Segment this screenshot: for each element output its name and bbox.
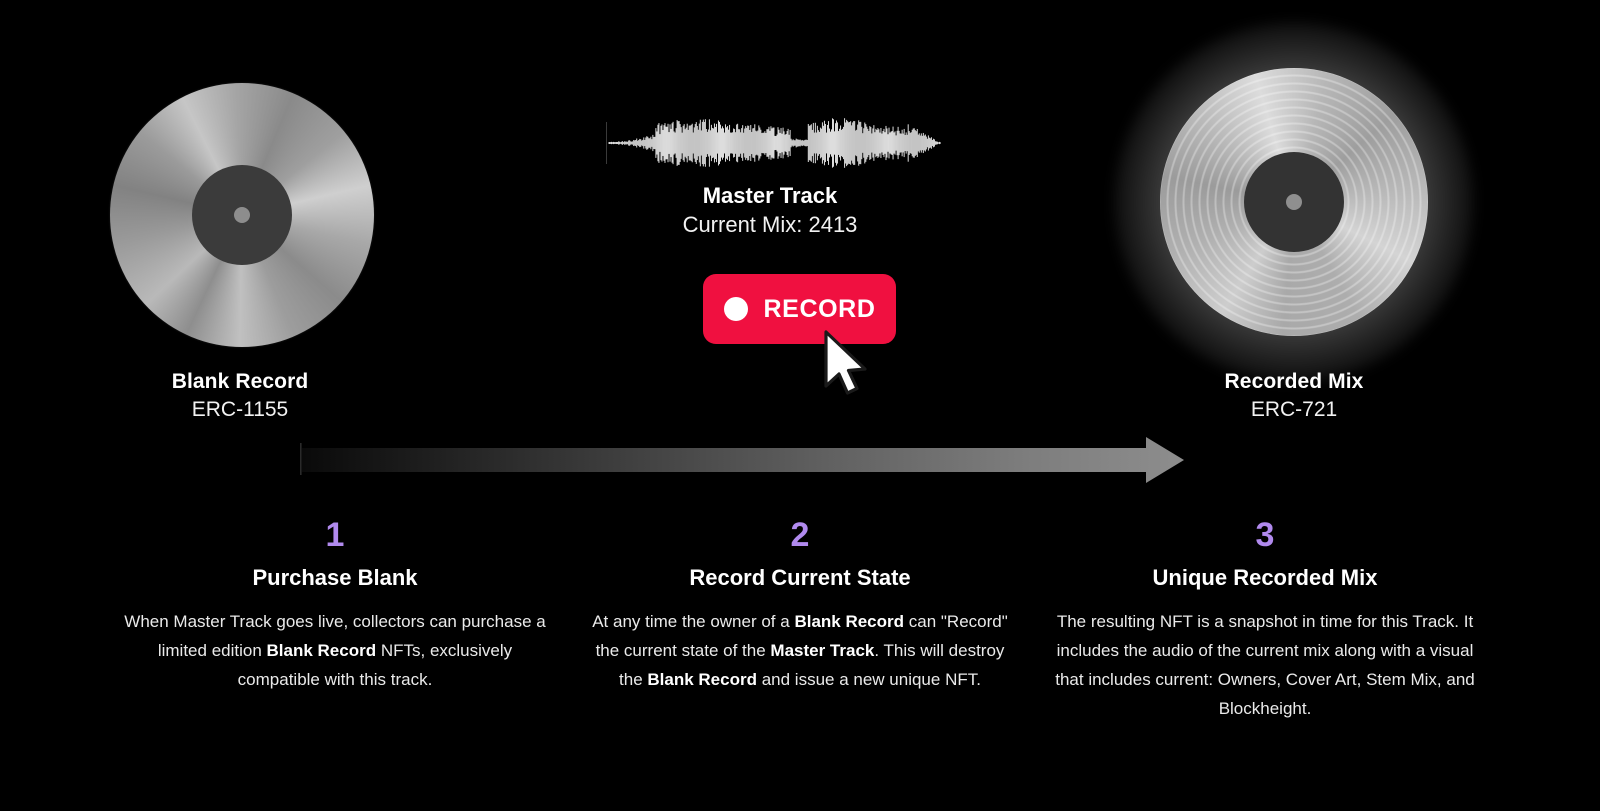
blank-record-caption: Blank Record ERC-1155 [60,369,420,425]
step-1: 1 Purchase Blank When Master Track goes … [103,515,568,723]
blank-record-graphic [110,83,374,347]
blank-record-standard: ERC-1155 [60,395,420,425]
record-button-label: RECORD [764,295,876,324]
step-2: 2 Record Current State At any time the o… [568,515,1033,723]
audio-waveform-icon [606,116,942,170]
master-track-title: Master Track [560,182,980,210]
record-spindle-hole [234,207,250,223]
page-root: Blank Record ERC-1155 Recorded Mix ERC-7… [0,0,1600,811]
steps-row: 1 Purchase Blank When Master Track goes … [0,515,1600,723]
step-body: When Master Track goes live, collectors … [121,607,550,694]
step-body: At any time the owner of a Blank Record … [586,607,1015,694]
master-track-info: Master Track Current Mix: 2413 [560,182,980,240]
step-number: 1 [121,515,550,555]
recorded-mix-title: Recorded Mix [1114,369,1474,395]
record-dot-icon [724,297,748,321]
recorded-mix-caption: Recorded Mix ERC-721 [1114,369,1474,425]
record-button[interactable]: RECORD [703,274,896,344]
blank-record-title: Blank Record [60,369,420,395]
step-heading: Purchase Blank [121,563,550,593]
right-arrow-gradient-icon [300,435,1190,485]
recorded-mix-standard: ERC-721 [1114,395,1474,425]
step-3: 3 Unique Recorded Mix The resulting NFT … [1033,515,1498,723]
step-heading: Unique Recorded Mix [1051,563,1480,593]
record-spindle-hole [1286,194,1302,210]
step-number: 3 [1051,515,1480,555]
step-heading: Record Current State [586,563,1015,593]
step-body: The resulting NFT is a snapshot in time … [1051,607,1480,723]
step-number: 2 [586,515,1015,555]
current-mix-value: Current Mix: 2413 [560,210,980,240]
recorded-mix-graphic [1160,68,1428,336]
